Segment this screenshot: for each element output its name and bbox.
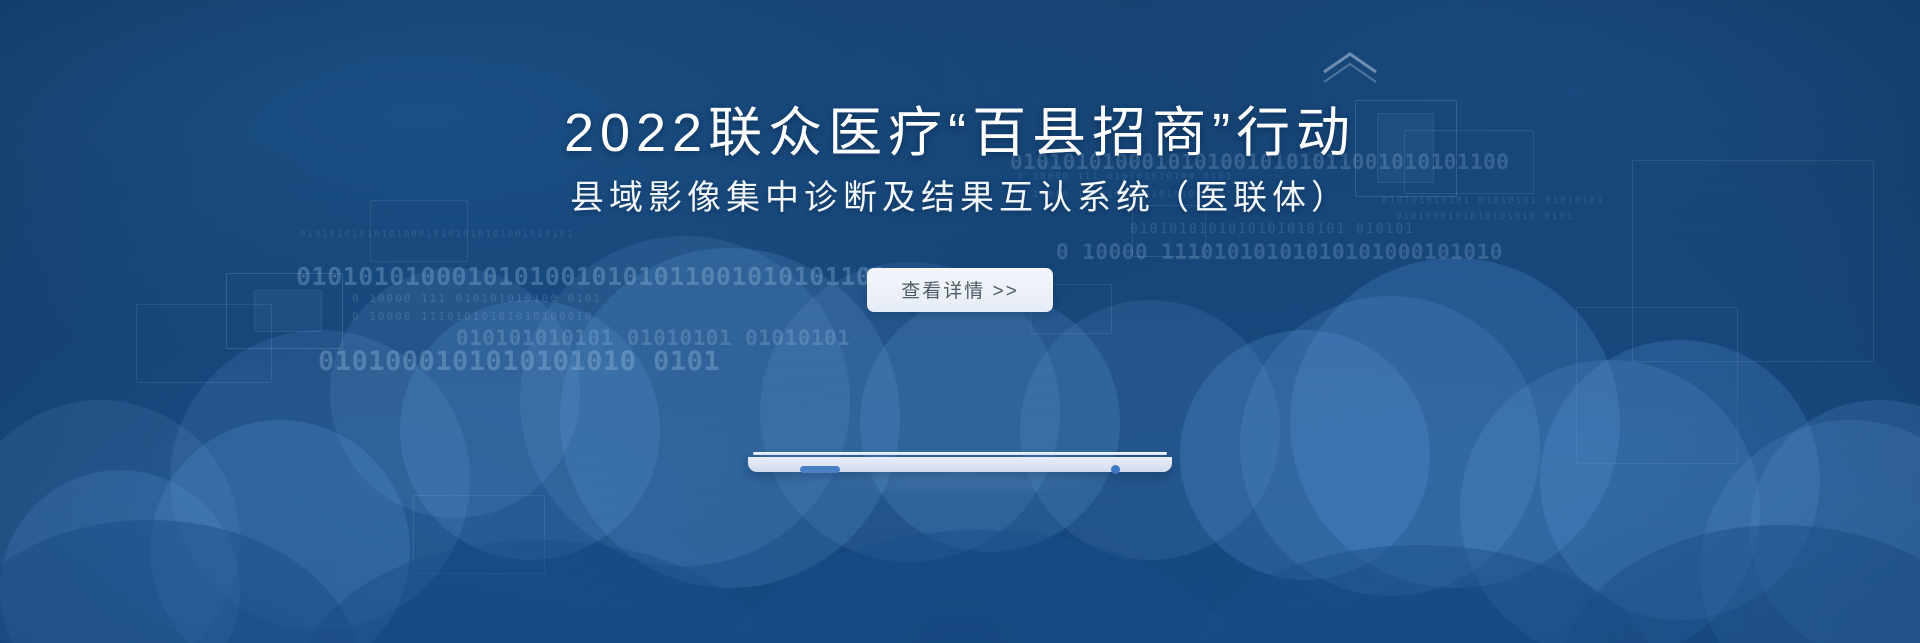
view-details-button[interactable]: 查看详情 >> bbox=[867, 268, 1053, 312]
device-base bbox=[748, 457, 1172, 472]
device-notch-icon bbox=[800, 466, 840, 473]
promo-banner: 01010101000101010010101011001010101100 0… bbox=[0, 0, 1920, 643]
laptop-device bbox=[748, 452, 1172, 476]
banner-content: 2022联众医疗“百县招商”行动 县域影像集中诊断及结果互认系统（医联体） 查看… bbox=[0, 0, 1920, 312]
device-screen-edge bbox=[753, 452, 1167, 455]
binary-data-text: 0 10000 11101010101010100010 bbox=[352, 310, 593, 323]
device-indicator-dot bbox=[1111, 465, 1120, 474]
cta-container: 查看详情 >> bbox=[0, 268, 1920, 312]
binary-data-text: 0101000101010101010 0101 bbox=[318, 346, 720, 377]
device-glow bbox=[724, 470, 1196, 504]
page-title: 2022联众医疗“百县招商”行动 bbox=[0, 0, 1920, 162]
page-subtitle: 县域影像集中诊断及结果互认系统（医联体） bbox=[0, 162, 1920, 217]
